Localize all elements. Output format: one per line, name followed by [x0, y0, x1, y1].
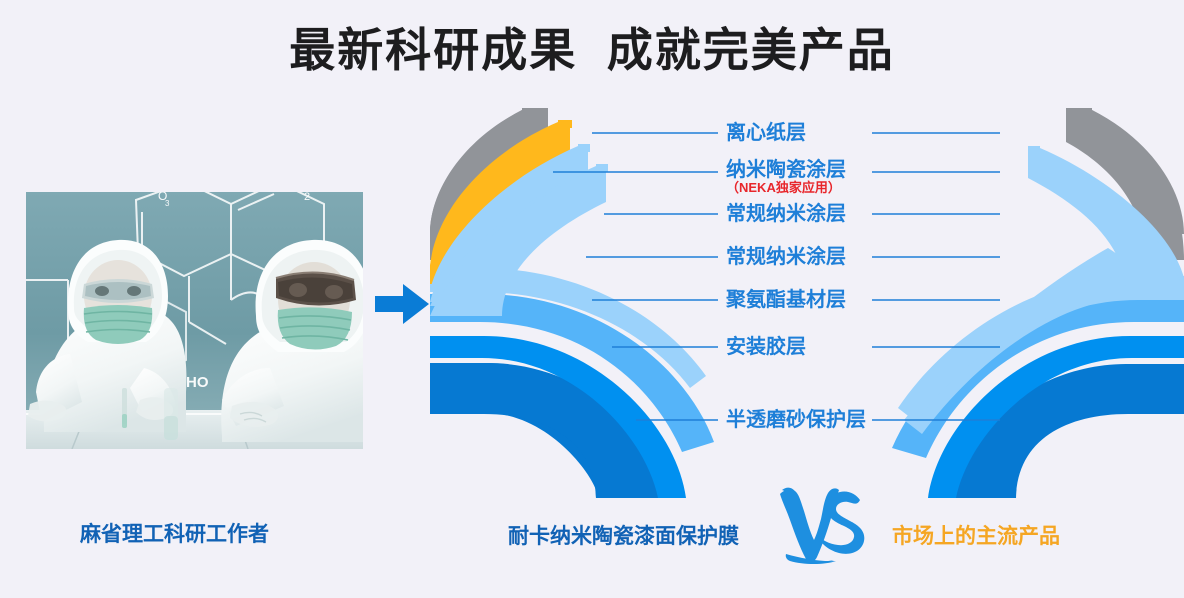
layer-label-regular-nano-2: 常规纳米涂层 — [726, 247, 846, 267]
poster-canvas: 最新科研成果 成就完美产品 — [0, 0, 1184, 598]
layer-label-nano-ceramic-coating: 纳米陶瓷涂层 — [726, 160, 846, 180]
vs-logo — [776, 484, 868, 566]
layer-label-regular-nano-1: 常规纳米涂层 — [726, 204, 846, 224]
photo-illustration: O 3 OH O 2 HO — [26, 192, 363, 449]
caption-market-product: 市场上的主流产品 — [892, 526, 1060, 547]
svg-text:HO: HO — [186, 374, 209, 391]
layer-label-tpu-substrate: 聚氨酯基材层 — [726, 290, 846, 310]
competitor-film-layer-diagram — [858, 108, 1184, 498]
lab-researchers-photo: O 3 OH O 2 HO — [26, 192, 363, 449]
svg-text:3: 3 — [165, 199, 170, 208]
page-title: 最新科研成果 成就完美产品 — [0, 24, 1184, 77]
layer-label-neka-exclusive-note: （NEKA独家应用） — [726, 181, 841, 194]
caption-left-photo: 麻省理工科研工作者 — [80, 524, 269, 545]
svg-text:2: 2 — [304, 192, 310, 203]
layer-label-install-adhesive: 安装胶层 — [726, 337, 806, 357]
layer-label-matte-protective: 半透磨砂保护层 — [726, 410, 866, 430]
right-arrow-icon — [373, 278, 433, 330]
neka-film-layer-diagram-render — [430, 108, 720, 498]
caption-neka-product: 耐卡纳米陶瓷漆面保护膜 — [508, 526, 739, 547]
layer-label-release-liner: 离心纸层 — [726, 123, 806, 143]
